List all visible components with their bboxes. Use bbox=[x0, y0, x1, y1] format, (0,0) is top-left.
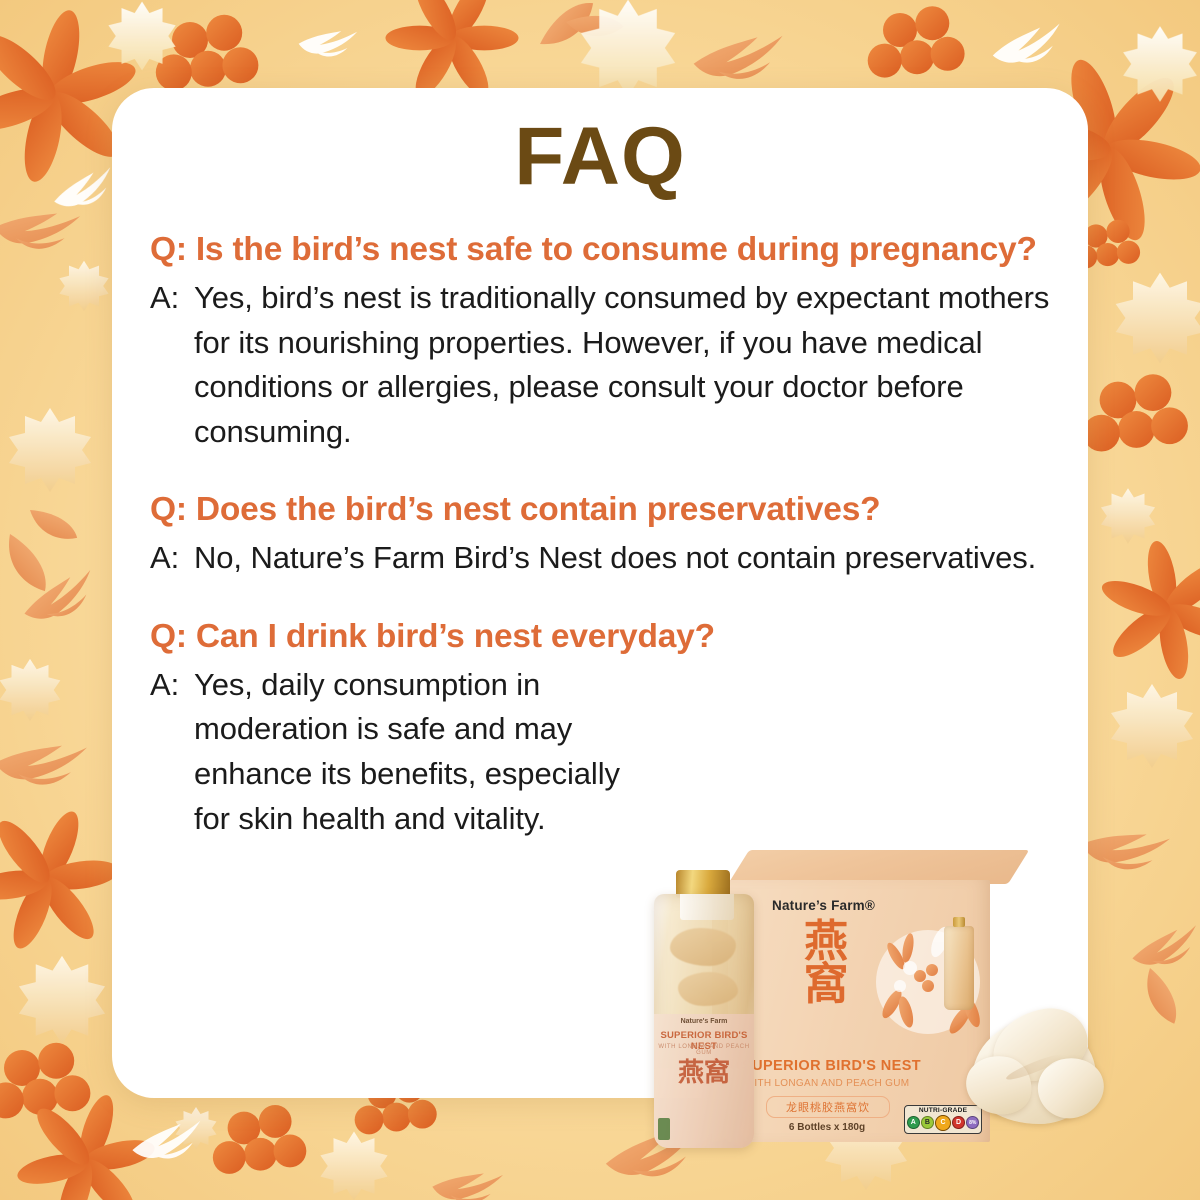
faq-answer: A: No, Nature’s Farm Bird’s Nest does no… bbox=[150, 536, 1062, 581]
nutri-grade-a: A bbox=[907, 1116, 920, 1129]
carton-bottle-illustration bbox=[944, 926, 974, 1010]
carton-pack-size: 6 Bottles x 180g bbox=[756, 1122, 898, 1133]
faq-question: Q: Can I drink bird’s nest everyday? bbox=[150, 615, 1062, 660]
bottle-label: Nature's Farm SUPERIOR BIRD'S NEST WITH … bbox=[654, 1014, 754, 1148]
answer-marker: A: bbox=[150, 663, 194, 842]
poster-canvas: FAQ Q: Is the bird’s nest safe to consum… bbox=[0, 0, 1200, 1200]
carton-product-title: SUPERIOR BIRD'S NEST bbox=[742, 1058, 912, 1074]
faq-question: Q: Is the bird’s nest safe to consume du… bbox=[150, 228, 1062, 273]
carton-top-panel bbox=[728, 850, 1029, 884]
question-marker: Q: bbox=[150, 228, 196, 273]
bottle-body: Nature's Farm SUPERIOR BIRD'S NEST WITH … bbox=[654, 894, 754, 1148]
nutri-grade-c-selected: C bbox=[935, 1115, 951, 1131]
page-title: FAQ bbox=[112, 110, 1088, 204]
bird-nest-chunk bbox=[670, 928, 736, 966]
question-text: Is the bird’s nest safe to consume durin… bbox=[196, 228, 1062, 273]
question-text: Can I drink bird’s nest everyday? bbox=[196, 615, 1062, 660]
answer-marker: A: bbox=[150, 276, 194, 455]
answer-marker: A: bbox=[150, 536, 194, 581]
bottle-brand: Nature's Farm bbox=[654, 1018, 754, 1025]
carton-brand-name: Nature’s Farm bbox=[772, 898, 865, 913]
faq-item: Q: Is the bird’s nest safe to consume du… bbox=[150, 228, 1062, 454]
question-text: Does the bird’s nest contain preservativ… bbox=[196, 488, 1062, 533]
question-marker: Q: bbox=[150, 615, 196, 660]
carton-chinese-name: 燕窩 bbox=[786, 920, 866, 1006]
answer-text: No, Nature’s Farm Bird’s Nest does not c… bbox=[194, 536, 1062, 581]
bottle-subtitle: WITH LONGAN AND PEACH GUM bbox=[654, 1044, 754, 1056]
faq-list: Q: Is the bird’s nest safe to consume du… bbox=[150, 228, 1062, 867]
faq-item: Q: Can I drink bird’s nest everyday? A: … bbox=[150, 615, 1062, 841]
question-marker: Q: bbox=[150, 488, 196, 533]
birds-nest-photo bbox=[962, 1002, 1112, 1138]
carton-brand-logo: Nature’s Farm® bbox=[772, 898, 875, 913]
nutri-grade-b: B bbox=[921, 1116, 934, 1129]
answer-text: Yes, daily consumption in moderation is … bbox=[194, 663, 624, 842]
carton-chinese-subtitle: 龙眼桃胶燕窩饮 bbox=[766, 1096, 890, 1118]
bottle-halal-badge bbox=[658, 1118, 670, 1140]
faq-answer: A: Yes, bird’s nest is traditionally con… bbox=[150, 276, 1062, 455]
carton-product-subtitle: WITH LONGAN AND PEACH GUM bbox=[738, 1078, 916, 1089]
carton-brand-trademark: ® bbox=[865, 898, 875, 913]
faq-item: Q: Does the bird’s nest contain preserva… bbox=[150, 488, 1062, 581]
carton-front-panel: Nature’s Farm® 燕窩 SUPERIOR BIRD'S NEST W… bbox=[728, 880, 990, 1142]
product-image-group: Nature’s Farm® 燕窩 SUPERIOR BIRD'S NEST W… bbox=[632, 812, 1062, 1172]
product-bottle: Nature's Farm SUPERIOR BIRD'S NEST WITH … bbox=[650, 870, 758, 1148]
bird-nest-chunk bbox=[678, 972, 738, 1006]
faq-question: Q: Does the bird’s nest contain preserva… bbox=[150, 488, 1062, 533]
bottle-chinese-name: 燕窩 bbox=[654, 1060, 754, 1086]
answer-text: Yes, bird’s nest is traditionally consum… bbox=[194, 276, 1062, 455]
bottle-neck bbox=[680, 894, 734, 920]
